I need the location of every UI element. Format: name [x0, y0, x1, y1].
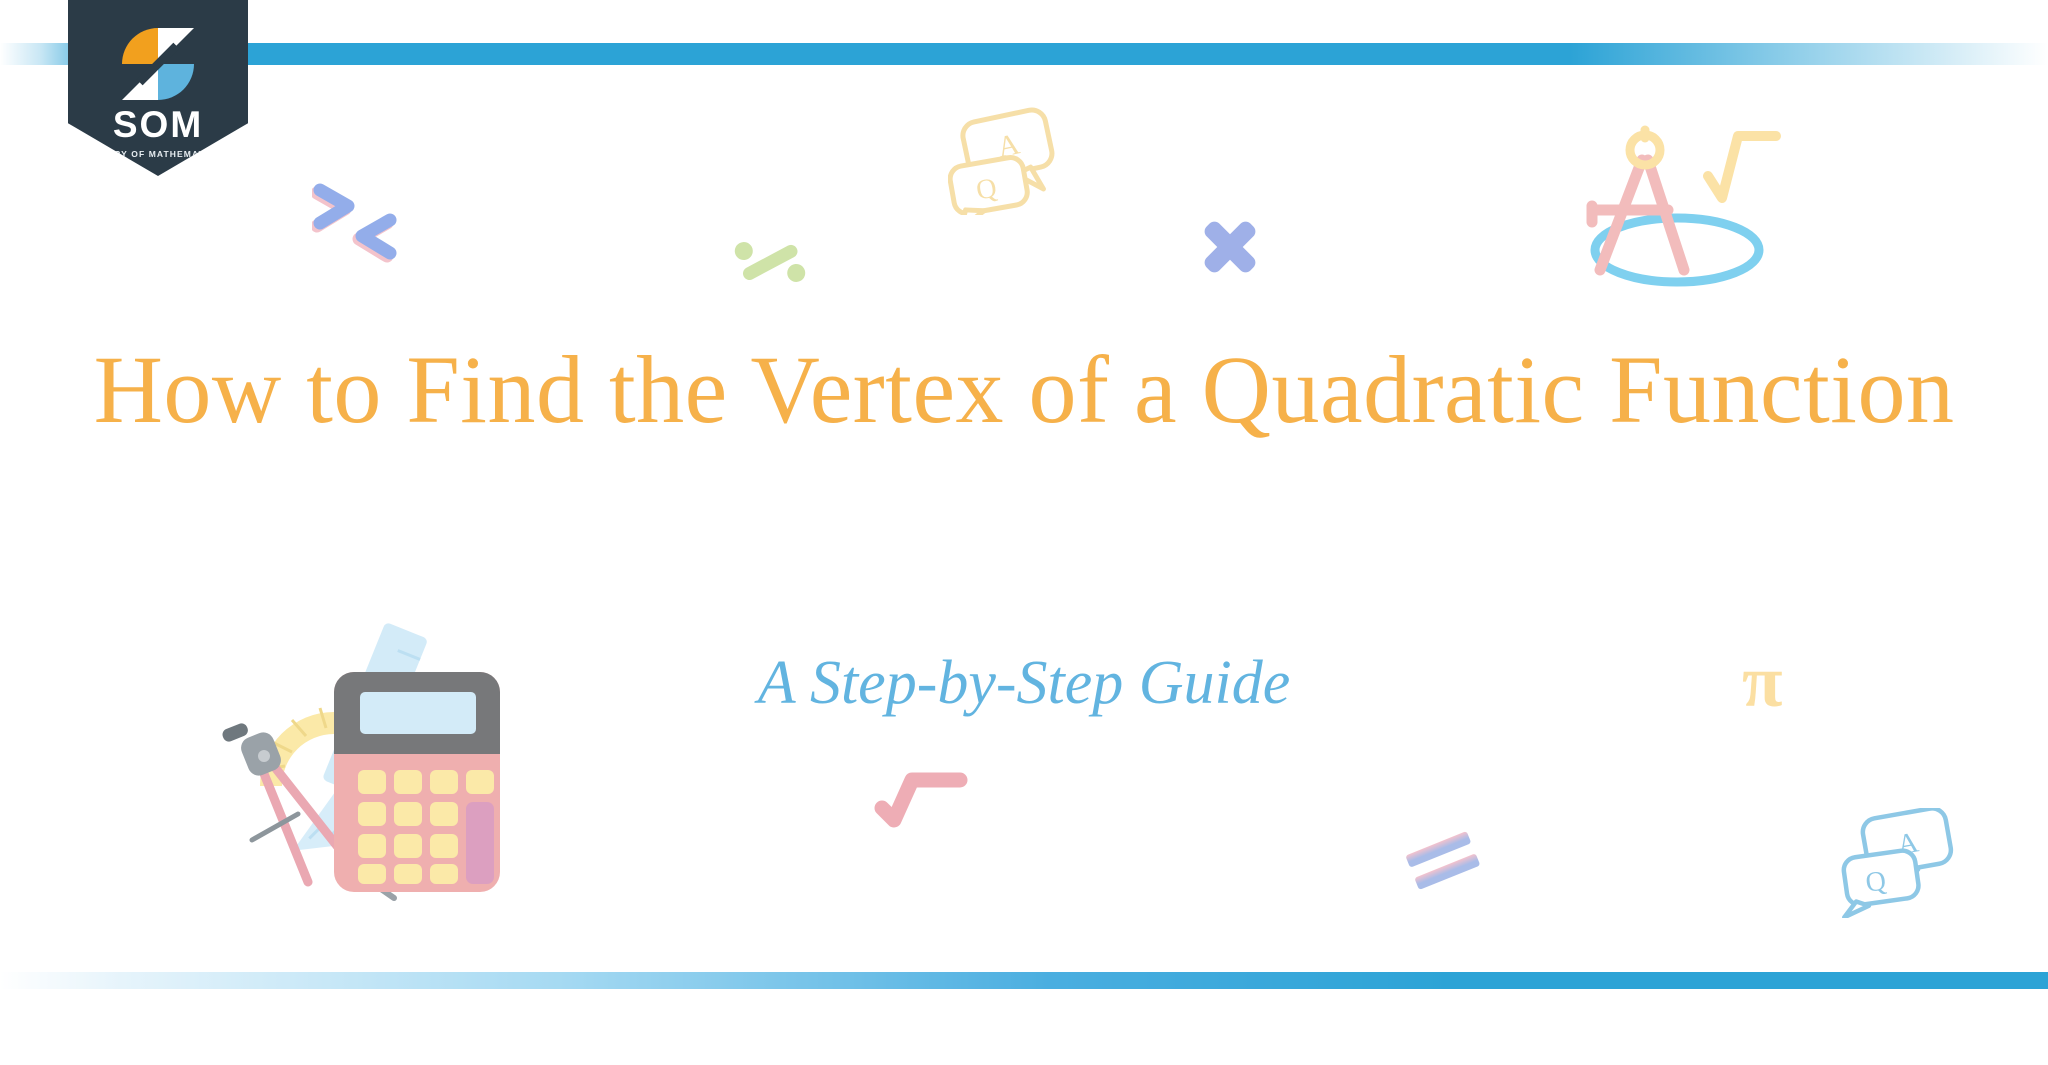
logo-quadrant-blue [158, 64, 194, 100]
square-root-pink-icon [872, 762, 972, 842]
svg-text:Q: Q [1864, 865, 1888, 899]
equals-icon [1398, 826, 1488, 896]
page-subtitle: A Step-by-Step Guide [0, 648, 2048, 719]
multiply-icon [1195, 212, 1265, 282]
qa-bubbles-yellow-icon: A Q [948, 105, 1068, 215]
square-root-yellow-icon [1708, 136, 1776, 198]
som-logo-mark-icon [122, 28, 194, 100]
page-title: How to Find the Vertex of a Quadratic Fu… [0, 330, 2048, 451]
division-icon [730, 222, 810, 302]
compass-and-root-illustration [1572, 118, 1802, 308]
greater-less-icon [312, 178, 402, 268]
compass-icon [1592, 160, 1684, 270]
top-accent-bar [0, 43, 2048, 65]
bottom-accent-bar [0, 972, 2048, 989]
qa-bubbles-blue-icon: A Q [1838, 808, 1956, 918]
logo-quadrant-orange [122, 28, 158, 64]
som-logo-badge[interactable]: SOM STORY OF MATHEMATICS [68, 0, 248, 176]
logo-wordmark: SOM [113, 106, 203, 143]
logo-tagline: STORY OF MATHEMATICS [94, 149, 223, 159]
